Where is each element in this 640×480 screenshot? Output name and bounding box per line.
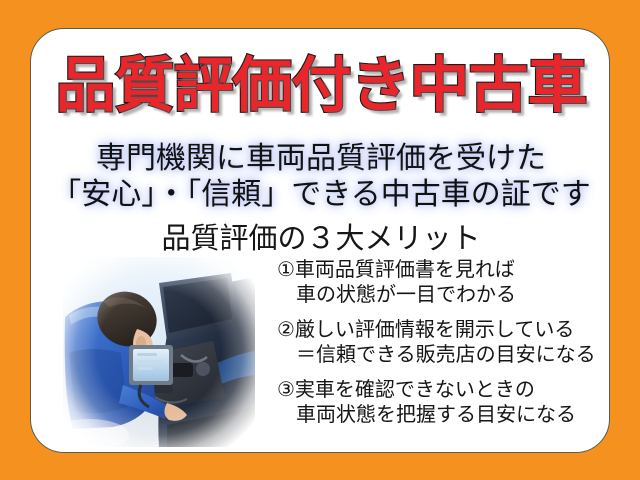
poster-background: 品質評価付き中古車 専門機関に車両品質評価を受けた 「安心」・「信頼」できる中古… <box>0 0 640 480</box>
page-title: 品質評価付き中古車 <box>31 55 610 117</box>
merit-1-line-2: 車の状態が一目でわかる <box>277 282 607 307</box>
merit-1-line-1: ①車両品質評価書を見れば <box>277 257 607 282</box>
subtitle-block: 専門機関に車両品質評価を受けた 「安心」・「信頼」できる中古車の証です <box>31 141 610 213</box>
list-item: ③実車を確認できないときの 車両状態を把握する目安になる <box>277 377 607 427</box>
mechanic-inspection-photo <box>63 257 255 447</box>
merit-2-line-1: ②厳しい評価情報を開示している <box>277 317 607 342</box>
white-card: 品質評価付き中古車 専門機関に車両品質評価を受けた 「安心」・「信頼」できる中古… <box>30 28 610 453</box>
merit-3-line-1: ③実車を確認できないときの <box>277 377 607 402</box>
subtitle-line-2: 「安心」・「信頼」できる中古車の証です <box>31 177 610 213</box>
list-item: ①車両品質評価書を見れば 車の状態が一目でわかる <box>277 257 607 307</box>
merit-2-line-2: ＝信頼できる販売店の目安になる <box>277 342 607 367</box>
merit-3-line-2: 車両状態を把握する目安になる <box>277 402 607 427</box>
merit-list: ①車両品質評価書を見れば 車の状態が一目でわかる ②厳しい評価情報を開示している… <box>277 257 607 437</box>
list-item: ②厳しい評価情報を開示している ＝信頼できる販売店の目安になる <box>277 317 607 367</box>
subtitle-line-1: 専門機関に車両品質評価を受けた <box>96 141 546 176</box>
merit-heading: 品質評価の３大メリット <box>31 221 610 255</box>
